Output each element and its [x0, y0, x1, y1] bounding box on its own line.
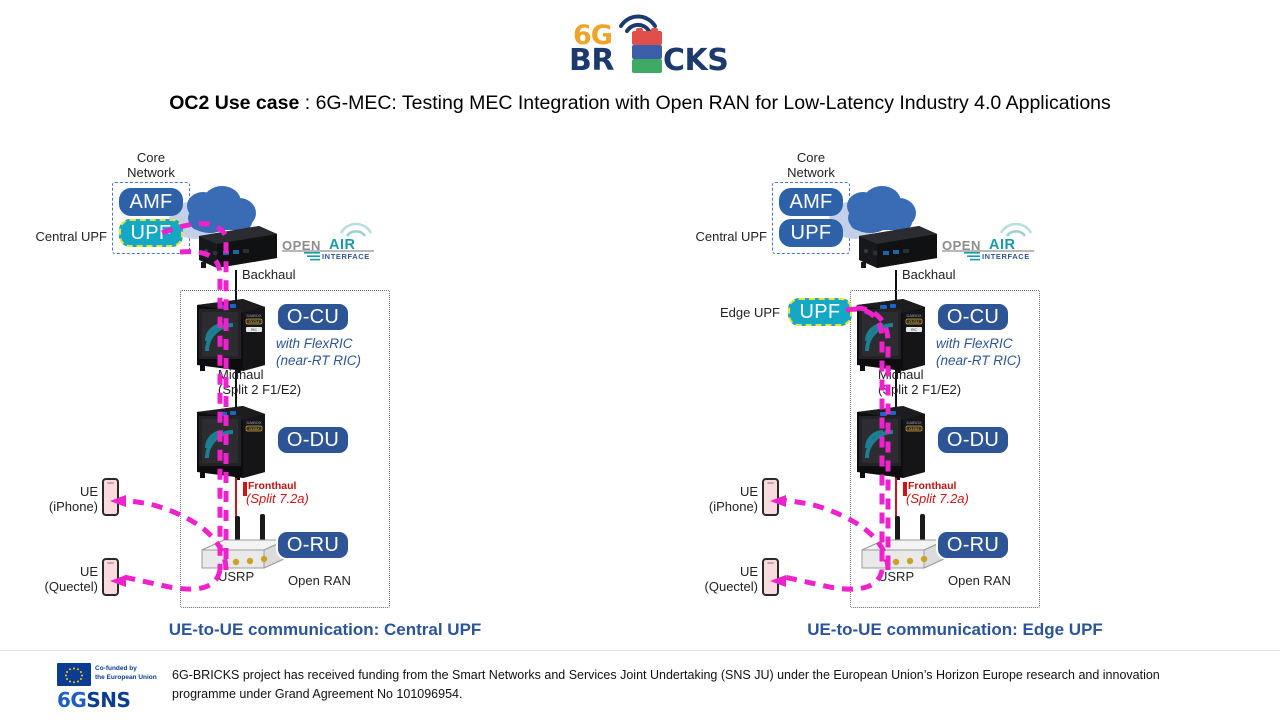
ue-iphone-device — [762, 478, 779, 516]
oai-bars-icon — [304, 252, 320, 261]
core-network-label: CoreNetwork — [101, 151, 201, 181]
central-upf-label: Central UPF — [0, 230, 107, 245]
openairinterface-logo: OPEN AIR INTERFACE — [282, 228, 374, 264]
footer-divider — [0, 650, 1280, 651]
ocu-pill: O-CU — [276, 302, 350, 332]
oai-interface-text: INTERFACE — [322, 252, 370, 261]
diagram-caption-right: UE-to-UE communication: Edge UPF — [660, 620, 1250, 640]
open-ran-label: Open RAN — [288, 574, 351, 589]
ocu-pill: O-CU — [936, 302, 1010, 332]
oai-open-text: OPEN — [942, 238, 981, 253]
fronthaul-split-label: (Split 7.2a) — [906, 492, 969, 507]
open-ran-label: Open RAN — [948, 574, 1011, 589]
odu-pill: O-DU — [276, 425, 350, 455]
midhaul-label: Midhaul(Split 2 F1/E2) — [218, 368, 301, 398]
svg-text:O-CU: O-CU — [909, 320, 919, 324]
upf-pill: UPF — [119, 219, 183, 247]
usrp-label: USRP — [218, 570, 254, 585]
eu-flag-icon — [57, 663, 91, 686]
logo-brick-stack — [632, 31, 662, 75]
ue-quectel-label: UE(Quectel) — [670, 565, 758, 595]
sns-6g-text: 6G — [57, 688, 86, 712]
funding-statement: 6G-BRICKS project has received funding f… — [172, 666, 1222, 704]
ue-quectel-device — [102, 558, 119, 596]
oai-bars-icon — [964, 252, 980, 261]
logo-bricks-left: BR — [569, 43, 614, 78]
oai-open-text: OPEN — [282, 238, 321, 253]
odu-server-icon: DAIBOX O-DU — [195, 402, 267, 482]
logo-bricks-right: CKS — [663, 43, 728, 78]
amf-pill: AMF — [779, 188, 843, 216]
oru-pill: O-RU — [936, 530, 1010, 560]
slide-root: 6G BR CKS OC2 Use case : 6G-MEC: Testing… — [0, 0, 1280, 720]
openairinterface-logo: OPEN AIR INTERFACE — [942, 228, 1034, 264]
edge-upf-pill: UPF — [788, 298, 852, 326]
oai-interface-text: INTERFACE — [982, 252, 1030, 261]
central-upf-label: Central UPF — [655, 230, 767, 245]
oru-pill: O-RU — [276, 530, 350, 560]
backhaul-label: Backhaul — [902, 268, 955, 283]
core-network-label: CoreNetwork — [761, 151, 861, 181]
oai-wifi-icon — [337, 216, 375, 238]
title-bold-prefix: OC2 Use case — [169, 92, 299, 114]
odu-server-icon: DAIBOX O-DU — [855, 402, 927, 482]
oai-air-text: AIR — [329, 237, 355, 253]
diagram-central-upf: CoreNetwork Central UPF AMF UPF — [30, 140, 620, 640]
ue-iphone-device — [102, 478, 119, 516]
ocu-server-icon: DAIBOX O-CU RIC — [195, 295, 267, 375]
brand-logo: 6G BR CKS — [566, 6, 716, 76]
oai-wifi-icon — [997, 216, 1035, 238]
svg-text:DAIBOX: DAIBOX — [246, 420, 261, 425]
svg-text:O-DU: O-DU — [249, 427, 259, 431]
oai-air-text: AIR — [989, 237, 1015, 253]
usrp-label: USRP — [878, 570, 914, 585]
ue-iphone-label: UE(iPhone) — [10, 485, 98, 515]
mini-pc-icon — [193, 224, 279, 270]
backhaul-label: Backhaul — [242, 268, 295, 283]
svg-text:O-DU: O-DU — [909, 427, 919, 431]
ue-quectel-device — [762, 558, 779, 596]
mini-pc-icon — [853, 224, 939, 270]
eu-funding-badge-text: Co-funded bythe European Union — [95, 664, 157, 683]
ue-iphone-label: UE(iPhone) — [670, 485, 758, 515]
svg-text:RIC: RIC — [911, 328, 917, 332]
svg-text:DAIBOX: DAIBOX — [246, 313, 261, 318]
sns-sns-text: SNS — [86, 688, 130, 712]
upf-pill: UPF — [779, 219, 843, 247]
edge-upf-label: Edge UPF — [680, 306, 780, 321]
ocu-sublabel: with FlexRIC(near-RT RIC) — [936, 336, 1021, 370]
odu-pill: O-DU — [936, 425, 1010, 455]
page-title: OC2 Use case : 6G-MEC: Testing MEC Integ… — [0, 92, 1280, 115]
amf-pill: AMF — [119, 188, 183, 216]
svg-text:RIC: RIC — [251, 328, 257, 332]
sns-logo: 6GSNS — [57, 688, 130, 712]
title-rest: : 6G-MEC: Testing MEC Integration with O… — [299, 92, 1110, 114]
diagram-edge-upf: CoreNetwork Central UPF AMF UPF — [660, 140, 1250, 640]
svg-text:DAIBOX: DAIBOX — [906, 420, 921, 425]
ue-quectel-label: UE(Quectel) — [10, 565, 98, 595]
fronthaul-split-label: (Split 7.2a) — [246, 492, 309, 507]
svg-text:DAIBOX: DAIBOX — [906, 313, 921, 318]
eu-stars-icon — [57, 663, 91, 686]
svg-text:O-CU: O-CU — [249, 320, 259, 324]
ocu-server-icon: DAIBOX O-CU RIC — [855, 295, 927, 375]
ocu-sublabel: with FlexRIC(near-RT RIC) — [276, 336, 361, 370]
midhaul-label: Midhaul(Split 2 F1/E2) — [878, 368, 961, 398]
diagram-caption-left: UE-to-UE communication: Central UPF — [30, 620, 620, 640]
